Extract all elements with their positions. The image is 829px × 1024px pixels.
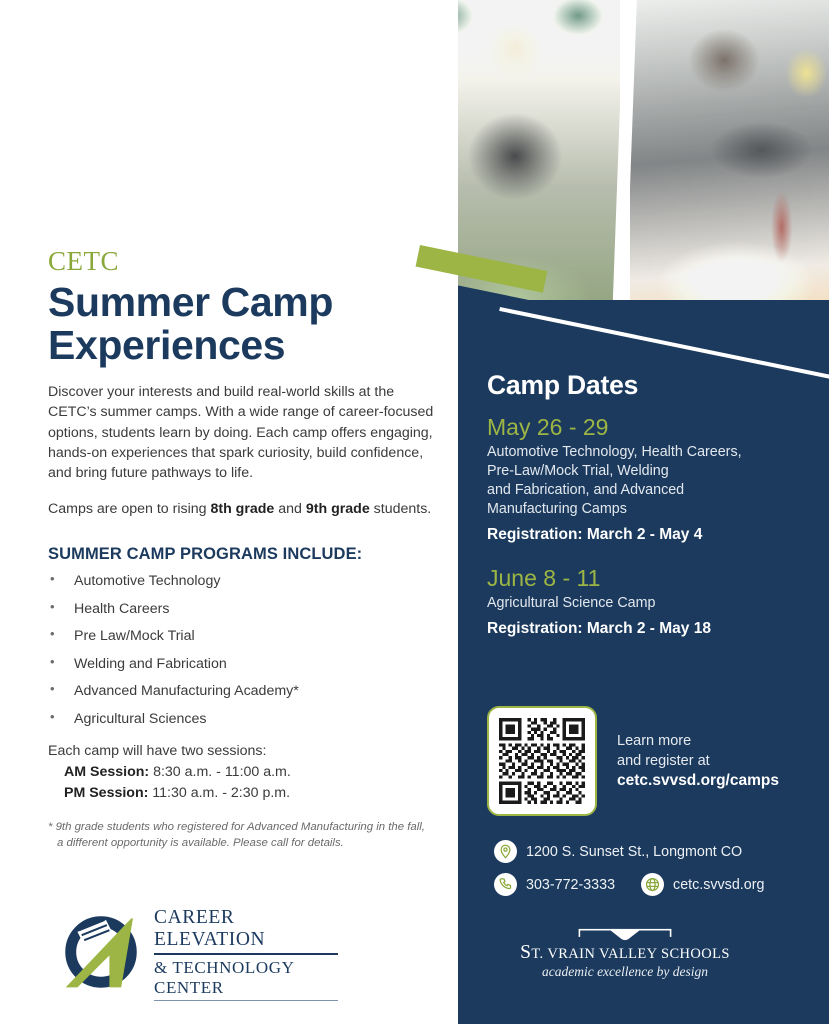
list-item: Automotive Technology [48, 573, 440, 589]
qr-row: Learn more and register at cetc.svvsd.or… [487, 706, 779, 816]
registration-june: Registration: March 2 - May 18 [487, 620, 817, 638]
phone-icon [494, 873, 517, 896]
date-block-may: May 26 - 29 Automotive Technology, Healt… [487, 415, 817, 544]
qr-code[interactable] [487, 706, 597, 816]
page-title-line-2: Experiences [48, 322, 285, 368]
camp-list-may-line-1: Automotive Technology, Health Careers, [487, 444, 742, 460]
session-pm-time: 11:30 a.m. - 2:30 p.m. [148, 785, 290, 801]
cetc-logo-line-2: & TECHNOLOGY CENTER [154, 955, 338, 1001]
programs-list: Automotive Technology Health Careers Pre… [48, 573, 440, 727]
footnote-line-2: a different opportunity is available. Pl… [48, 836, 440, 852]
date-range-may: May 26 - 29 [487, 415, 817, 440]
list-item: Welding and Fabrication [48, 656, 440, 672]
qr-caption-url[interactable]: cetc.svvsd.org/camps [617, 772, 779, 790]
programs-heading: SUMMER CAMP PROGRAMS INCLUDE: [48, 545, 440, 564]
grades-suffix: students. [370, 501, 432, 517]
contact-address-row: 1200 S. Sunset St., Longmont CO [494, 840, 764, 863]
svvsd-name-initial: S [520, 942, 531, 963]
cetc-logo-wordmark: CAREER ELEVATION & TECHNOLOGY CENTER [154, 903, 338, 1001]
cetc-logo: CAREER ELEVATION & TECHNOLOGY CENTER [58, 912, 338, 992]
cetc-logo-mark [58, 915, 144, 989]
camp-list-june: Agricultural Science Camp [487, 594, 817, 613]
contact-website[interactable]: cetc.svvsd.org [673, 877, 764, 893]
left-content-column: CETC Summer Camp Experiences Discover yo… [48, 248, 440, 852]
qr-caption: Learn more and register at cetc.svvsd.or… [617, 732, 779, 790]
intro-paragraph: Discover your interests and build real-w… [48, 382, 440, 483]
page-title: Summer Camp Experiences [48, 281, 440, 366]
registration-may: Registration: March 2 - May 4 [487, 526, 817, 544]
poster-root: CETC Summer Camp Experiences Discover yo… [0, 0, 829, 1024]
grades-bold-8th: 8th grade [210, 501, 274, 517]
eyebrow-cetc: CETC [48, 248, 440, 275]
qr-code-image [496, 715, 588, 807]
page-title-line-1: Summer Camp [48, 279, 333, 325]
contact-block: 1200 S. Sunset St., Longmont CO 303-772-… [494, 840, 764, 906]
contact-phone[interactable]: 303-772-3333 [526, 877, 615, 893]
svvsd-logo: ST. VRAIN VALLEY SCHOOLS academic excell… [500, 928, 750, 980]
grades-prefix: Camps are open to rising [48, 501, 210, 517]
location-pin-icon [494, 840, 517, 863]
qr-caption-line-2: and register at [617, 752, 779, 771]
svvsd-tagline: academic excellence by design [500, 964, 750, 980]
globe-icon [641, 873, 664, 896]
footnote: * 9th grade students who registered for … [48, 820, 440, 852]
sessions-intro: Each camp will have two sessions: [48, 741, 440, 762]
camp-dates-heading: Camp Dates [487, 370, 817, 401]
session-pm-label: PM Session: [64, 785, 148, 801]
date-range-june: June 8 - 11 [487, 566, 817, 591]
svvsd-name-rest: T. VRAIN VALLEY SCHOOLS [531, 946, 730, 962]
cetc-logo-line-1: CAREER ELEVATION [154, 907, 338, 955]
camp-list-may-line-2: Pre-Law/Mock Trial, Welding [487, 463, 669, 479]
footnote-line-1: * 9th grade students who registered for … [48, 821, 425, 833]
list-item: Agricultural Sciences [48, 711, 440, 727]
grades-middle: and [274, 501, 306, 517]
list-item: Pre Law/Mock Trial [48, 628, 440, 644]
session-pm: PM Session: 11:30 a.m. - 2:30 p.m. [48, 783, 440, 804]
contact-phone-web-row: 303-772-3333 cetc.svvsd.org [494, 873, 764, 896]
grades-bold-9th: 9th grade [306, 501, 370, 517]
header-photo-automotive [630, 0, 829, 300]
contact-address: 1200 S. Sunset St., Longmont CO [526, 844, 742, 860]
list-item: Health Careers [48, 601, 440, 617]
graduation-cap-icon [577, 928, 673, 941]
svvsd-name: ST. VRAIN VALLEY SCHOOLS [500, 943, 750, 963]
sessions-block: Each camp will have two sessions: AM Ses… [48, 741, 440, 805]
camp-dates-content: Camp Dates May 26 - 29 Automotive Techno… [487, 370, 817, 660]
session-am-label: AM Session: [64, 764, 149, 780]
session-am-time: 8:30 a.m. - 11:00 a.m. [149, 764, 291, 780]
date-block-june: June 8 - 11 Agricultural Science Camp Re… [487, 566, 817, 638]
grades-paragraph: Camps are open to rising 8th grade and 9… [48, 499, 440, 519]
list-item: Advanced Manufacturing Academy* [48, 683, 440, 699]
camp-list-may-line-4: Manufacturing Camps [487, 501, 627, 517]
qr-caption-line-1: Learn more [617, 732, 779, 751]
camp-list-may: Automotive Technology, Health Careers, P… [487, 443, 817, 518]
session-am: AM Session: 8:30 a.m. - 11:00 a.m. [48, 762, 440, 783]
camp-list-may-line-3: and Fabrication, and Advanced [487, 482, 684, 498]
camp-list-june-line-1: Agricultural Science Camp [487, 595, 655, 611]
